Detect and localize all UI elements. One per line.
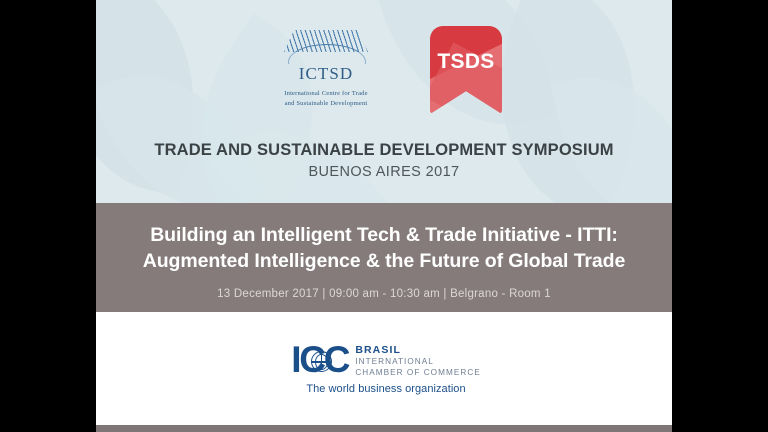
slide-header-band: ICTSD International Centre for Trade and… [96, 0, 672, 203]
ictsd-subtitle-line-1: International Centre for Trade [266, 89, 386, 99]
ictsd-subtitle-line-2: and Sustainable Development [266, 99, 386, 109]
slide-footer: ICC BRASIL INTERNATIONAL CHAMBER OF COMM… [96, 312, 672, 425]
icc-org-line-1: INTERNATIONAL [355, 356, 480, 367]
icc-tagline: The world business organization [261, 383, 511, 395]
globe-icon [311, 351, 332, 372]
letterbox-bar-right [672, 0, 768, 432]
ictsd-hatched-dome-icon [278, 30, 374, 64]
tsds-logo: TSDS [430, 26, 502, 114]
tsds-logo-name: TSDS [430, 50, 502, 74]
symposium-location: BUENOS AIRES 2017 [96, 164, 672, 180]
ictsd-logo: ICTSD International Centre for Trade and… [266, 22, 386, 109]
session-meta: 13 December 2017 | 09:00 am - 10:30 am |… [96, 288, 672, 300]
ictsd-logo-subtitle: International Centre for Trade and Susta… [266, 89, 386, 109]
symposium-heading: TRADE AND SUSTAINABLE DEVELOPMENT SYMPOS… [96, 140, 672, 180]
ictsd-logo-name: ICTSD [266, 65, 386, 83]
logo-row: ICTSD International Centre for Trade and… [96, 22, 672, 127]
icc-brasil-logo: ICC BRASIL INTERNATIONAL CHAMBER OF COMM… [257, 342, 511, 396]
icc-org-line-2: CHAMBER OF COMMERCE [355, 367, 480, 378]
letterbox-bar-left [0, 0, 96, 432]
symposium-title: TRADE AND SUSTAINABLE DEVELOPMENT SYMPOS… [96, 140, 672, 161]
session-title: Building an Intelligent Tech & Trade Ini… [96, 203, 672, 274]
icc-country-label: BRASIL [355, 344, 480, 357]
session-title-line-1: Building an Intelligent Tech & Trade Ini… [96, 223, 672, 249]
video-frame: ICTSD International Centre for Trade and… [0, 0, 768, 432]
icc-logo-letters: ICC [291, 342, 348, 377]
session-title-line-2: Augmented Intelligence & the Future of G… [96, 249, 672, 275]
session-band: Building an Intelligent Tech & Trade Ini… [96, 203, 672, 312]
presentation-slide: ICTSD International Centre for Trade and… [96, 0, 672, 432]
slide-bottom-strip [96, 425, 672, 432]
